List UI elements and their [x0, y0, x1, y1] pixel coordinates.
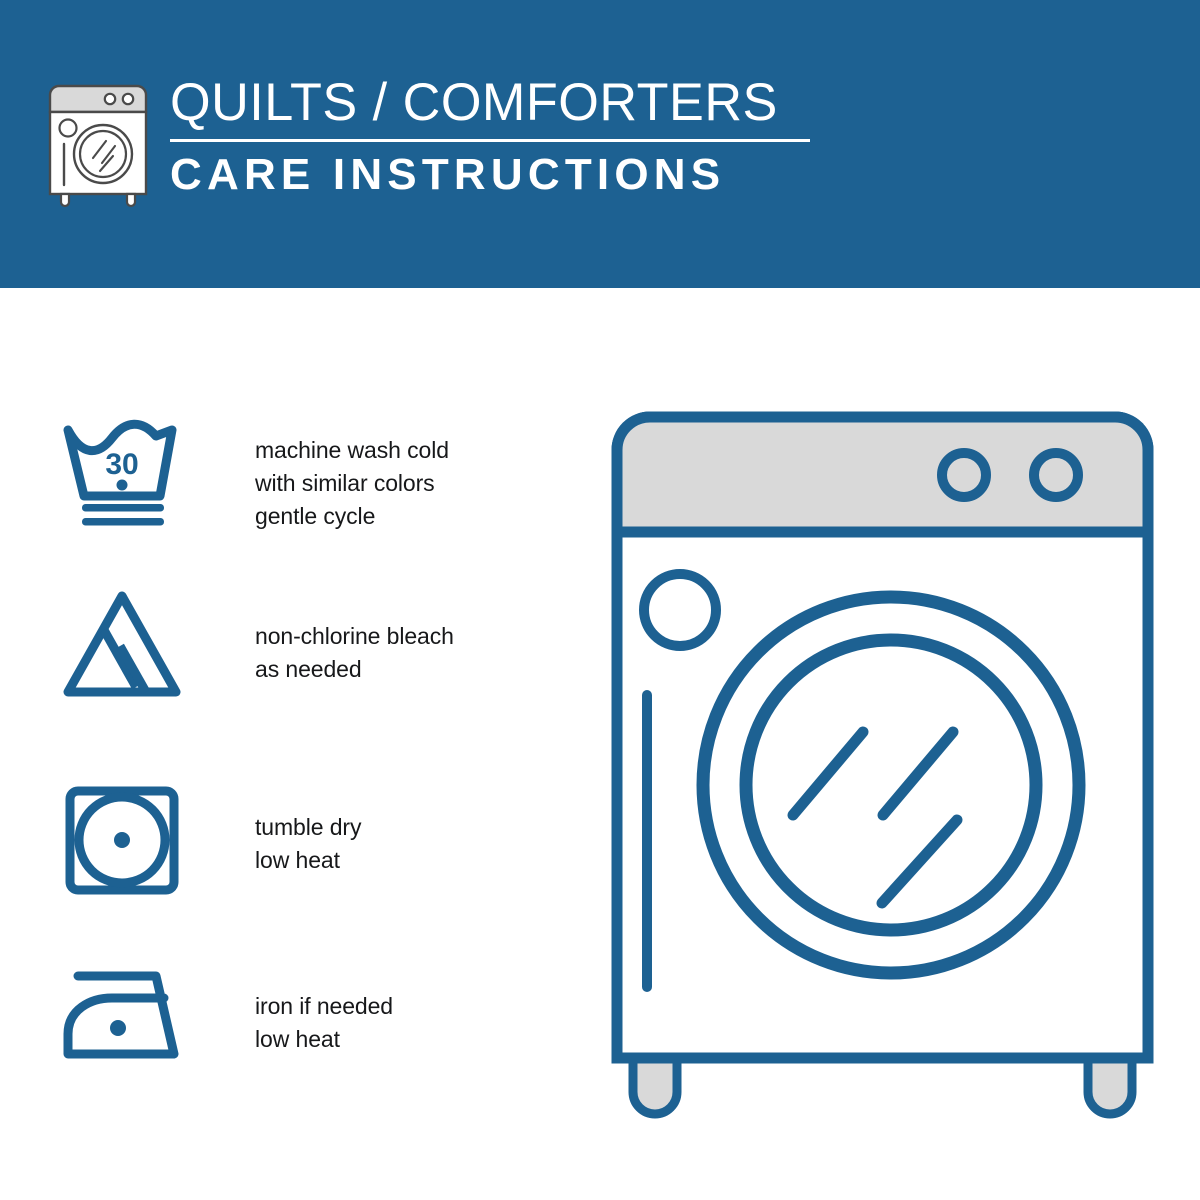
- page-title: QUILTS / COMFORTERS: [170, 74, 800, 132]
- care-text-bleach: non-chlorine bleach as needed: [190, 588, 530, 686]
- care-text-tumble-dry: tumble dry low heat: [190, 783, 530, 877]
- front-load-washing-machine-illustration: [595, 395, 1170, 1130]
- washer-control-panel: [617, 417, 1148, 532]
- care-instructions-page: QUILTS / COMFORTERS CARE INSTRUCTIONS 30…: [0, 0, 1200, 1200]
- tumble-dry-icon: [60, 783, 190, 898]
- title-block: QUILTS / COMFORTERS CARE INSTRUCTIONS: [170, 74, 810, 199]
- washing-machine-icon: [48, 78, 154, 210]
- wash-temp-value: 30: [105, 448, 138, 481]
- wash-basin-icon: 30: [60, 418, 190, 533]
- header-band: QUILTS / COMFORTERS CARE INSTRUCTIONS: [0, 0, 1200, 288]
- care-text-wash: machine wash cold with similar colors ge…: [190, 418, 530, 533]
- care-instruction-list: 30 machine wash cold with similar colors…: [0, 288, 560, 1200]
- iron-icon: [60, 956, 190, 1071]
- page-subtitle: CARE INSTRUCTIONS: [170, 151, 810, 199]
- care-row-bleach: non-chlorine bleach as needed: [60, 588, 530, 703]
- care-row-wash: 30 machine wash cold with similar colors…: [60, 418, 530, 533]
- care-text-iron: iron if needed low heat: [190, 956, 530, 1056]
- washer-dispenser-icon: [644, 574, 716, 646]
- care-row-tumble-dry: tumble dry low heat: [60, 783, 530, 898]
- care-row-iron: iron if needed low heat: [60, 956, 530, 1071]
- bleach-triangle-icon: [60, 588, 190, 703]
- header-content: QUILTS / COMFORTERS CARE INSTRUCTIONS: [48, 74, 810, 210]
- title-divider: [170, 139, 810, 142]
